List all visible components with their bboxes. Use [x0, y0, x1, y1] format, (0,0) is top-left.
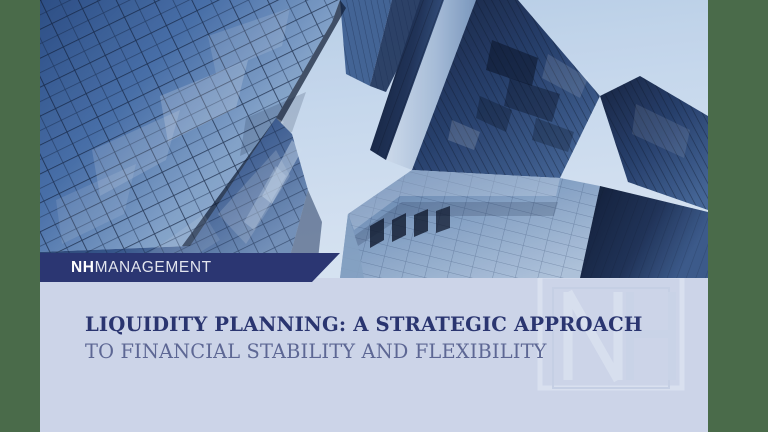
skyscraper-photo-illustration [40, 0, 708, 278]
brand-logo-bold: NH [71, 259, 95, 276]
title-panel: LIQUIDITY PLANNING: A STRATEGIC APPROACH… [40, 278, 708, 432]
brand-logo-banner: NHMANAGEMENT [40, 253, 340, 282]
brand-logo-regular: MANAGEMENT [95, 259, 212, 276]
brand-logo-text: NHMANAGEMENT [71, 260, 212, 276]
title-block: LIQUIDITY PLANNING: A STRATEGIC APPROACH… [85, 314, 643, 363]
page-title: LIQUIDITY PLANNING: A STRATEGIC APPROACH [85, 314, 643, 336]
slide-frame: NHMANAGEMENT LIQUIDITY PLANNING: A STRAT… [0, 0, 768, 432]
hero-photo [40, 0, 708, 278]
slide-canvas: NHMANAGEMENT LIQUIDITY PLANNING: A STRAT… [40, 0, 708, 432]
page-subtitle: TO FINANCIAL STABILITY AND FLEXIBILITY [85, 341, 643, 363]
